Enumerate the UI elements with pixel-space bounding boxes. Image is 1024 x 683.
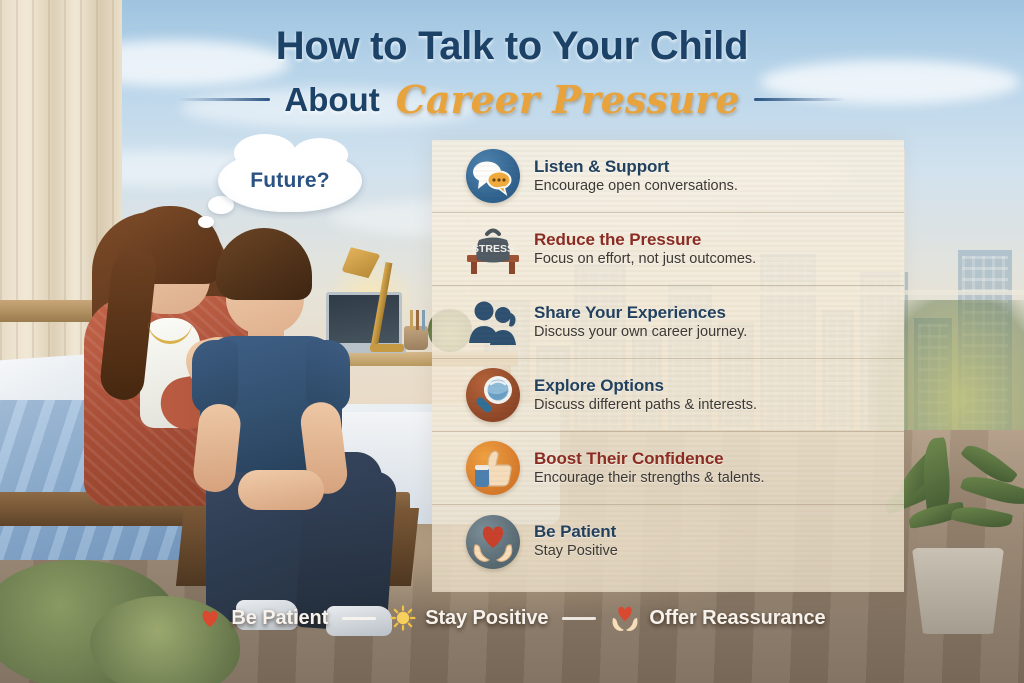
two-people-silhouette-icon xyxy=(466,295,520,349)
thumbs-up-icon xyxy=(466,441,520,495)
footer-item-stay-positive: Stay Positive xyxy=(390,605,548,631)
boy-sleeve xyxy=(306,340,350,412)
stress-badge-label: STRESS xyxy=(472,243,514,255)
sun-icon xyxy=(390,605,416,631)
page-title: How to Talk to Your Child xyxy=(0,24,1024,69)
tip-description: Stay Positive xyxy=(534,543,890,560)
boy-hands xyxy=(238,470,324,510)
speech-bubbles-icon xyxy=(466,149,520,203)
desk-lamp-base xyxy=(370,344,404,352)
tip-description: Discuss different paths & interests. xyxy=(534,397,890,414)
tip-heading: Be Patient xyxy=(534,522,890,541)
tip-row: Boost Their Confidence Encourage their s… xyxy=(432,432,904,505)
footer-item-be-patient: Be Patient xyxy=(198,606,328,630)
magnifying-glass-icon xyxy=(466,368,520,422)
tip-row: Be Patient Stay Positive xyxy=(432,505,904,578)
tip-heading: Share Your Experiences xyxy=(534,303,890,322)
stress-weight-icon: STRESS xyxy=(466,222,520,276)
footer-item-offer-reassurance: Offer Reassurance xyxy=(610,604,825,632)
tip-row: STRESS Reduce the Pressure Focus on effo… xyxy=(432,213,904,286)
pencil xyxy=(422,310,425,330)
bed-headboard xyxy=(0,300,100,322)
pencil xyxy=(416,310,419,330)
tip-row: Share Your Experiences Discuss your own … xyxy=(432,286,904,359)
heart-icon xyxy=(198,606,222,630)
title-rule-right xyxy=(754,98,846,101)
boy-sleeve xyxy=(192,340,238,414)
thought-bubble-text: Future? xyxy=(250,169,330,193)
tip-heading: Reduce the Pressure xyxy=(534,230,890,249)
footer-label: Stay Positive xyxy=(425,607,548,630)
heart-in-hands-icon xyxy=(466,515,520,569)
tips-panel: Listen & Support Encourage open conversa… xyxy=(432,140,904,592)
tip-description: Encourage their strengths & talents. xyxy=(534,470,890,487)
subtitle-prefix: About xyxy=(284,81,379,119)
tip-heading: Explore Options xyxy=(534,376,890,395)
hands-heart-icon xyxy=(610,604,640,632)
tip-description: Encourage open conversations. xyxy=(534,178,890,195)
tip-heading: Boost Their Confidence xyxy=(534,449,890,468)
footer-bar: Be Patient Stay Positive xyxy=(0,604,1024,632)
thought-bubble: Future? xyxy=(218,150,362,212)
infographic-poster: Future? How to Talk to Your Child About … xyxy=(0,0,1024,683)
footer-label: Be Patient xyxy=(231,607,328,630)
tip-row: Listen & Support Encourage open conversa… xyxy=(432,140,904,213)
footer-separator xyxy=(562,617,596,620)
tip-row: Explore Options Discuss different paths … xyxy=(432,359,904,432)
subtitle-accent: Career Pressure xyxy=(396,77,740,122)
title-rule-left xyxy=(178,98,270,101)
footer-separator xyxy=(342,617,376,620)
tip-heading: Listen & Support xyxy=(534,157,890,176)
title-block: How to Talk to Your Child About Career P… xyxy=(0,24,1024,122)
laptop-screen xyxy=(326,292,402,346)
tip-description: Discuss your own career journey. xyxy=(534,324,890,341)
pencil xyxy=(410,310,413,330)
tip-description: Focus on effort, not just outcomes. xyxy=(534,251,890,268)
subtitle-row: About Career Pressure xyxy=(0,77,1024,122)
thought-bubble-lobe xyxy=(198,216,214,228)
footer-label: Offer Reassurance xyxy=(649,607,825,630)
